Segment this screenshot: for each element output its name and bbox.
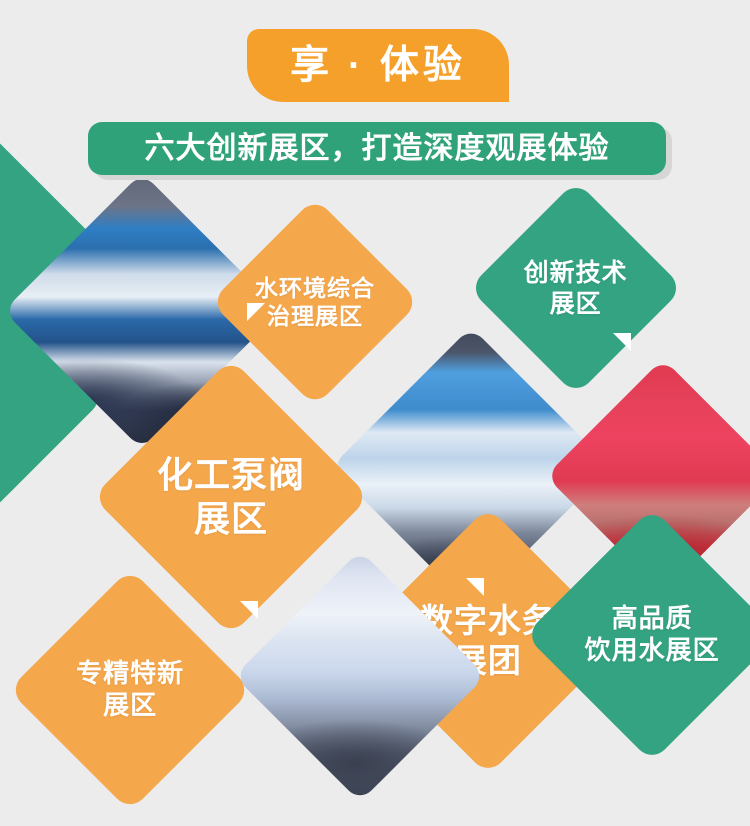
marker-triangle-chemical-pump-valve (240, 601, 258, 619)
header-badge-label: 享 · 体验 (290, 46, 466, 85)
marker-triangle-digital-water-affairs (466, 578, 484, 596)
poster-root: 享 · 体验 六大创新展区，打造深度观展体验 水环境综合 治理展区 创新技术 展… (0, 0, 750, 826)
zone-high-quality-drinking-water-label: 高品质 饮用水展区 (562, 603, 742, 666)
zone-specialized-new-label: 专精特新 展区 (44, 658, 216, 721)
header-subtitle-label: 六大创新展区，打造深度观展体验 (145, 134, 610, 164)
zone-grid: 水环境综合 治理展区 创新技术 展区 化工泵阀 展区 数字水务 展团 (0, 186, 750, 826)
zone-water-environment-label: 水环境综合 治理展区 (241, 274, 389, 330)
zone-innovative-technology-label: 创新技术 展区 (500, 258, 652, 319)
marker-triangle-water-environment (247, 303, 265, 321)
zone-high-quality-drinking-water[interactable]: 高品质 饮用水展区 (525, 508, 750, 763)
header-subtitle-banner: 六大创新展区，打造深度观展体验 (88, 122, 666, 175)
zone-chemical-pump-valve-label: 化工泵阀 展区 (133, 453, 329, 541)
header-badge: 享 · 体验 (247, 29, 509, 102)
marker-triangle-innovative-technology (613, 333, 631, 351)
